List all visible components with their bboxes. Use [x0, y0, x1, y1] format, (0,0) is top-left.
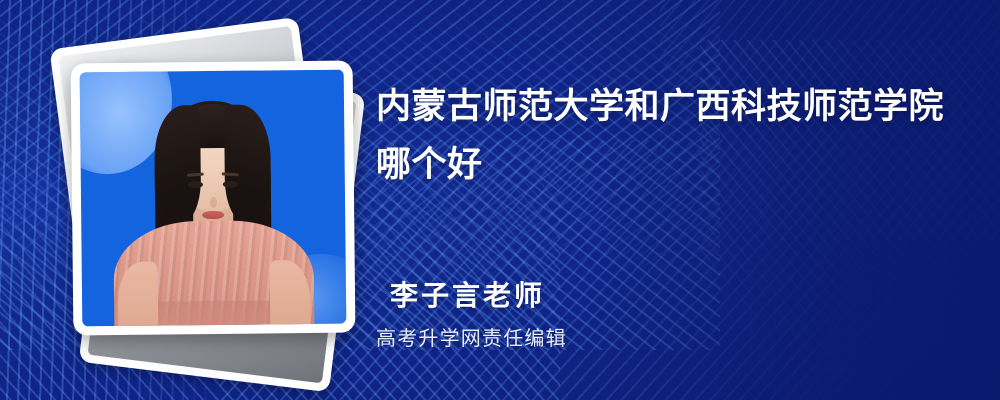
portrait-dress-waist [148, 300, 280, 326]
author-photo-stack [48, 30, 358, 375]
banner-text-column: 内蒙古师范大学和广西科技师范学院哪个好 李子言老师 高考升学网责任编辑 [376, 0, 976, 400]
author-avatar [80, 70, 347, 327]
portrait-eyebrow-right [222, 172, 239, 176]
article-headline: 内蒙古师范大学和广西科技师范学院哪个好 [376, 78, 956, 194]
author-role: 高考升学网责任编辑 [376, 322, 567, 351]
portrait-hair-right [224, 105, 271, 223]
portrait-illustration [80, 70, 347, 327]
portrait-mouth [202, 211, 224, 219]
author-photo-card [71, 61, 356, 336]
article-header-banner: 内蒙古师范大学和广西科技师范学院哪个好 李子言老师 高考升学网责任编辑 [0, 0, 1000, 400]
author-name: 李子言老师 [390, 274, 545, 314]
portrait-nose [210, 197, 217, 208]
portrait-hair-left [154, 105, 201, 223]
